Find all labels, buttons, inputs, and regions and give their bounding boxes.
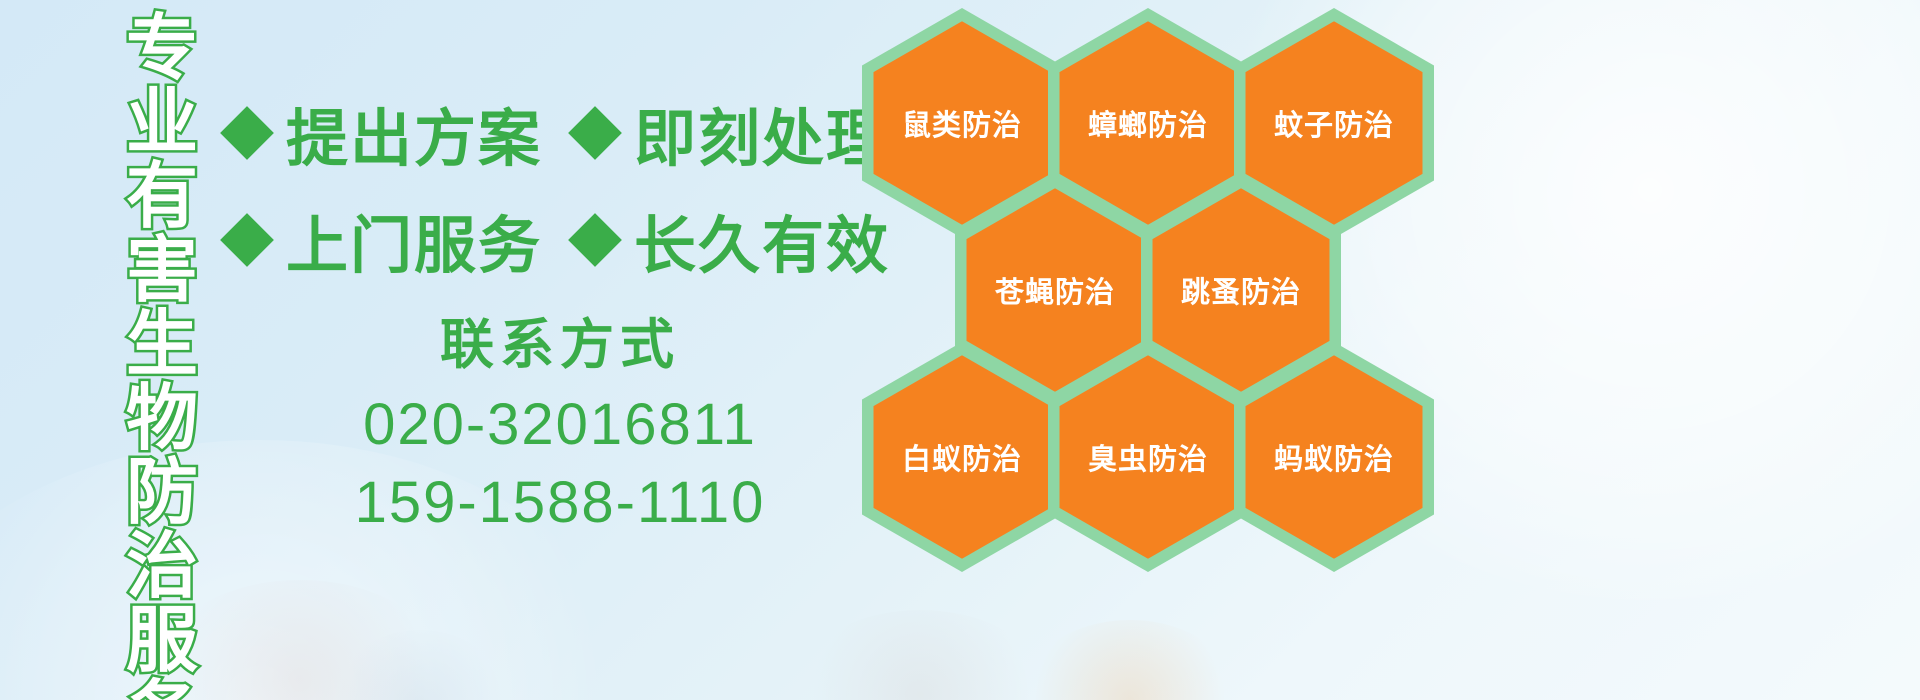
vertical-headline-char: 有 [126,160,198,234]
vertical-headline: 专 业 有 害 生 物 防 治 服 务 [108,12,216,688]
diamond-bullet-icon [568,106,622,160]
feature-label: 上门服务 [286,195,542,285]
vertical-headline-char: 害 [126,234,198,308]
service-hex-cell[interactable]: 蚂蚁防治 [1234,342,1434,572]
background-watermark-blob [330,630,510,700]
contact-title: 联系方式 [300,312,820,378]
diamond-bullet-icon [220,106,274,160]
promo-banner: 专 业 有 害 生 物 防 治 服 务 提出方案 即刻处理 上门服务 长久有效 [0,0,1920,700]
vertical-headline-char: 业 [126,86,198,160]
feature-label: 即刻处理 [634,88,890,178]
feature-item: 即刻处理 [576,88,890,178]
diamond-bullet-icon [568,213,622,267]
feature-item: 长久有效 [576,195,890,285]
background-watermark-blob [790,610,1050,700]
vertical-headline-char: 生 [126,308,198,382]
vertical-headline-char: 务 [126,678,198,700]
vertical-headline-char: 防 [126,456,198,530]
vertical-headline-char: 物 [126,382,198,456]
feature-row-1: 提出方案 即刻处理 [228,88,890,178]
feature-item: 上门服务 [228,195,542,285]
feature-label: 提出方案 [286,88,542,178]
background-watermark-blob [1020,620,1240,700]
contact-phone-landline[interactable]: 020-32016811 [300,386,820,464]
feature-label: 长久有效 [634,195,890,285]
feature-row-2: 上门服务 长久有效 [228,195,890,285]
vertical-headline-char: 专 [126,12,198,86]
feature-item: 提出方案 [228,88,542,178]
hex-label: 臭虫防治 [1048,342,1248,572]
hex-label: 白蚁防治 [862,342,1062,572]
vertical-headline-char: 服 [126,604,198,678]
vertical-headline-char: 治 [126,530,198,604]
contact-phone-mobile[interactable]: 159-1588-1110 [300,464,820,542]
hex-label: 蚂蚁防治 [1234,342,1434,572]
contact-block: 联系方式 020-32016811 159-1588-1110 [300,312,820,542]
diamond-bullet-icon [220,213,274,267]
service-hex-cell[interactable]: 臭虫防治 [1048,342,1248,572]
service-hex-cell[interactable]: 白蚁防治 [862,342,1062,572]
